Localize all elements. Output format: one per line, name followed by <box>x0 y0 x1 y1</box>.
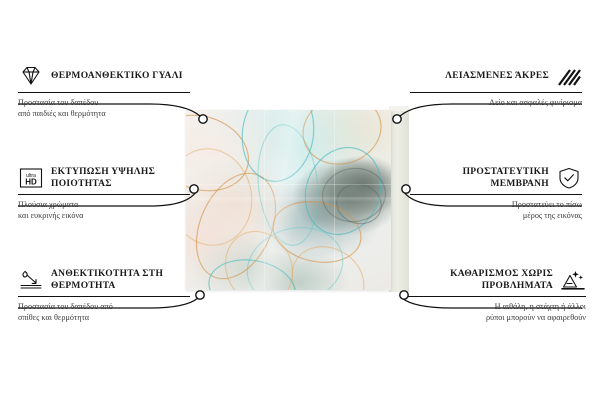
product-image <box>186 110 391 290</box>
divider <box>18 296 190 297</box>
flame-deflect-icon <box>18 268 44 292</box>
desc-line-2: από παιδιές και θερμότητα <box>18 109 106 118</box>
feature-title: ΛΕΙΑΣΜΕΝΕΣ ΆΚΡΕΣ <box>445 70 549 82</box>
divider <box>18 194 190 195</box>
desc-line-2: σπίθες και θερμότητα <box>18 313 89 322</box>
ultra-hd-icon: ultra HD <box>18 166 44 190</box>
desc-line-2: και ευκρινής εικόνα <box>18 211 83 220</box>
feature-title: ΘΕΡΜΟΑΝΘΕΚΤΙΚΟ ΓΥΑΛΙ <box>51 70 183 82</box>
shield-check-icon <box>556 166 582 190</box>
desc-line-1: Λείο και ασφαλές φινίρισμα <box>489 98 582 107</box>
glass-edge-top <box>389 106 409 111</box>
feature-heat-resistant-glass: ΘΕΡΜΟΑΝΘΕΚΤΙΚΟ ΓΥΑΛΙ Προστασία του δαπέδ… <box>18 64 190 119</box>
feature-description: Λείο και ασφαλές φινίρισμα <box>410 97 582 108</box>
feature-description: Η αιθάλη, η στάχτη ή άλλοι ρύποι μπορούν… <box>408 301 586 323</box>
desc-line-1: Η αιθάλη, η στάχτη ή άλλοι <box>495 302 586 311</box>
diagonal-stripes-icon <box>556 64 582 88</box>
feature-title: ΕΚΤΥΠΩΣΗ ΥΨΗΛΗΣ ΠΟΙΟΤΗΤΑΣ <box>51 166 190 190</box>
glass-edge-side <box>389 106 409 292</box>
divider <box>410 194 582 195</box>
desc-line-1: Προστατεύει το πίσω <box>512 200 582 209</box>
svg-text:HD: HD <box>25 178 37 187</box>
divider <box>408 296 586 297</box>
sparkle-wipe-icon <box>560 268 586 292</box>
connector-dot <box>196 291 204 299</box>
feature-polished-edges: ΛΕΙΑΣΜΕΝΕΣ ΆΚΡΕΣ Λείο και ασφαλές φινίρι… <box>410 64 582 108</box>
divider <box>410 92 582 93</box>
feature-description: Προστασία του δαπέδου από παιδιές και θε… <box>18 97 190 119</box>
feature-title: ΠΡΟΣΤΑΤΕΥΤΙΚΗ ΜΕΜΒΡΑΝΗ <box>410 166 549 190</box>
feature-title: ΚΑΘΑΡΙΣΜΟΣ ΧΩΡΙΣ ΠΡΟΒΛΗΜΑΤΑ <box>408 268 553 292</box>
desc-line-2: μέρος της εικόνας <box>523 211 582 220</box>
desc-line-1: Προστασία του δαπέδου από <box>18 302 113 311</box>
divider <box>18 92 190 93</box>
infographic-canvas: ΘΕΡΜΟΑΝΘΕΚΤΙΚΟ ΓΥΑΛΙ Προστασία του δαπέδ… <box>0 0 600 400</box>
feature-title: ΑΝΘΕΚΤΙΚΟΤΗΤΑ ΣΤΗ ΘΕΡΜΟΤΗΤΑ <box>51 268 190 292</box>
feature-description: Προστατεύει το πίσω μέρος της εικόνας <box>410 199 582 221</box>
glass-artwork <box>186 110 391 290</box>
desc-line-1: Πλούσια χρώματα <box>18 200 78 209</box>
feature-description: Πλούσια χρώματα και ευκρινής εικόνα <box>18 199 190 221</box>
feature-description: Προστασία του δαπέδου από σπίθες και θερ… <box>18 301 190 323</box>
feature-easy-cleaning: ΚΑΘΑΡΙΣΜΟΣ ΧΩΡΙΣ ΠΡΟΒΛΗΜΑΤΑ Η αιθάλη, η … <box>408 268 586 323</box>
diamond-icon <box>18 64 44 88</box>
feature-high-quality-print: ultra HD ΕΚΤΥΠΩΣΗ ΥΨΗΛΗΣ ΠΟΙΟΤΗΤΑΣ Πλούσ… <box>18 166 190 221</box>
feature-protective-membrane: ΠΡΟΣΤΑΤΕΥΤΙΚΗ ΜΕΜΒΡΑΝΗ Προστατεύει το πί… <box>410 166 582 221</box>
desc-line-2: ρύποι μπορούν να αφαιρεθούν <box>486 313 586 322</box>
desc-line-1: Προστασία του δαπέδου <box>18 98 98 107</box>
feature-heat-durability: ΑΝΘΕΚΤΙΚΟΤΗΤΑ ΣΤΗ ΘΕΡΜΟΤΗΤΑ Προστασία το… <box>18 268 190 323</box>
connector-dot <box>400 291 408 299</box>
